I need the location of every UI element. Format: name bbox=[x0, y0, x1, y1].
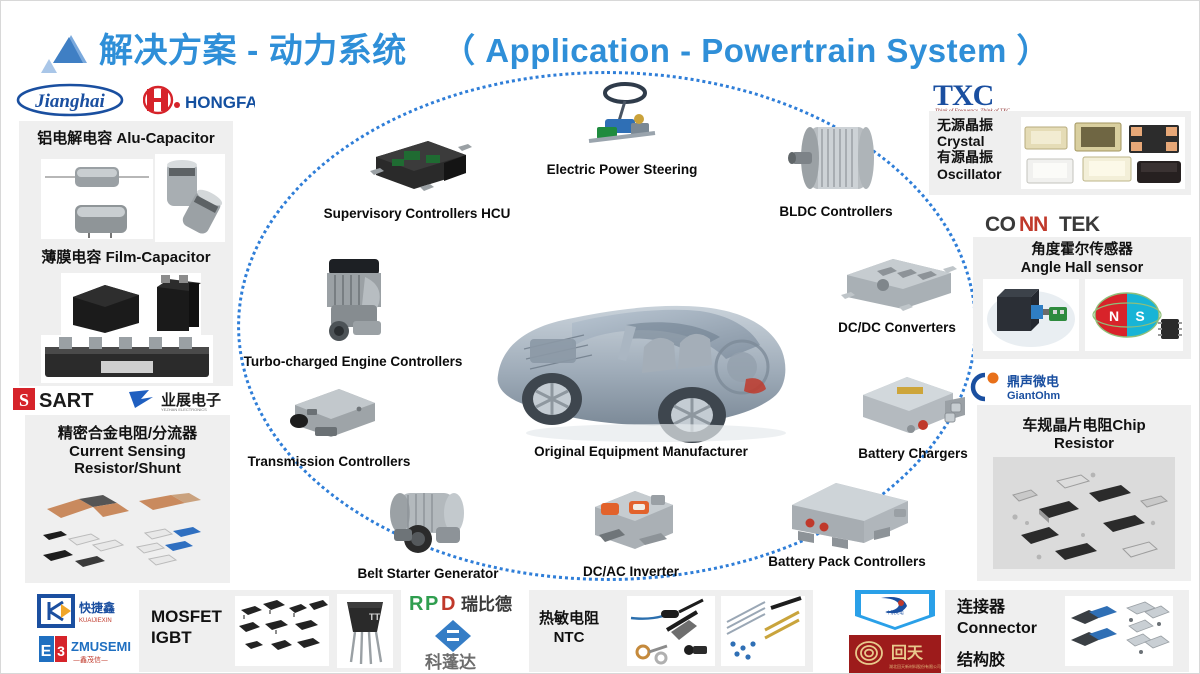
alu-capacitor-photo-2 bbox=[155, 154, 225, 242]
node-label: Transmission Controllers bbox=[229, 455, 429, 470]
svg-text:TEK: TEK bbox=[1059, 213, 1100, 236]
node-dc-ac-inverter: DC/AC Inverter bbox=[549, 481, 713, 580]
svg-text:YEZHAN ELECTRONICS: YEZHAN ELECTRONICS bbox=[161, 407, 207, 412]
turbo-engine-photo bbox=[213, 251, 493, 347]
svg-text:SART: SART bbox=[39, 390, 93, 412]
magnet-hall-diagram: N S bbox=[1085, 279, 1183, 351]
bldc-motor-photo bbox=[747, 119, 925, 199]
yezhan-electronics-logo: 业展电子 YEZHAN ELECTRONICS bbox=[127, 386, 239, 412]
mosfet-igbt-panel: MOSFET IGBT bbox=[139, 590, 401, 672]
ntc-sensor-photo-1 bbox=[627, 596, 715, 666]
node-label: Turbo-charged Engine Controllers bbox=[213, 355, 493, 370]
node-label: Supervisory Controllers HCU bbox=[301, 207, 533, 222]
svg-text:回天: 回天 bbox=[891, 643, 924, 662]
svg-text:GiantOhm: GiantOhm bbox=[1007, 390, 1060, 402]
battery-pack-controller-photo bbox=[747, 473, 947, 553]
svg-text:E: E bbox=[41, 643, 52, 660]
svg-text:3: 3 bbox=[57, 643, 65, 659]
huitian-adhesive-logo: 回天 湖北回天新材料股份有限公司 bbox=[849, 635, 941, 673]
connector-labels: 连接器 Connector bbox=[957, 598, 1037, 640]
node-original-equipment-manufacturer: Original Equipment Manufacturer bbox=[471, 263, 811, 460]
angle-hall-sensor-title-cn: 角度霍尔传感器 bbox=[973, 242, 1191, 259]
node-label: BLDC Controllers bbox=[747, 205, 925, 220]
svg-text:瑞比德: 瑞比德 bbox=[461, 594, 512, 615]
current-sensing-resistor-panel: 精密合金电阻/分流器 Current Sensing Resistor/Shun… bbox=[25, 415, 230, 583]
node-supervisory-controllers-hcu: Supervisory Controllers HCU bbox=[301, 129, 533, 222]
crystal-photos bbox=[1021, 117, 1185, 189]
bottom-strip: 快捷鑫 KUAIJIEXIN E 3 ZMUSEMI —鑫茂信— MOSFET … bbox=[1, 586, 1200, 674]
ntc-panel: 热敏电阻 NTC bbox=[529, 590, 813, 672]
node-label: Original Equipment Manufacturer bbox=[471, 445, 811, 460]
triangle-mountains-logo-icon bbox=[37, 29, 107, 75]
svg-text:ZMUSEMI: ZMUSEMI bbox=[71, 639, 131, 654]
kelengda-logo: 科蓬达 bbox=[407, 618, 525, 670]
car-cutaway-photo bbox=[471, 263, 811, 443]
electric-power-steering-photo bbox=[529, 79, 715, 159]
angle-hall-sensor-panel: 角度霍尔传感器 Angle Hall sensor N bbox=[973, 237, 1191, 359]
svg-text:快捷鑫: 快捷鑫 bbox=[79, 600, 115, 615]
sart-logo: S SART bbox=[11, 386, 119, 412]
mosfet-brand-logos: 快捷鑫 KUAIJIEXIN E 3 ZMUSEMI —鑫茂信— bbox=[37, 592, 133, 670]
svg-text:湖北回天新材料股份有限公司: 湖北回天新材料股份有限公司 bbox=[889, 663, 941, 669]
ntc-sensor-photo-2 bbox=[721, 596, 805, 666]
capacitor-brand-logos: Jianghai HONGFA bbox=[15, 83, 235, 117]
node-label: Battery Pack Controllers bbox=[747, 555, 947, 570]
node-label: DC/DC Converters bbox=[807, 321, 987, 336]
battery-charger-photo bbox=[821, 369, 1005, 441]
crystal-oscillator-labels: 无源晶振 Crystal 有源晶振 Oscillator bbox=[937, 117, 1015, 182]
shunt-resistor-photo bbox=[33, 487, 223, 579]
belt-starter-generator-photo bbox=[331, 479, 525, 559]
node-label: Belt Starter Generator bbox=[331, 567, 525, 582]
title-bar: 解决方案 - 动力系统 （ Application - Powertrain S… bbox=[1, 9, 1200, 67]
alu-capacitor-photo-1 bbox=[41, 159, 153, 239]
svg-text:NN: NN bbox=[1019, 213, 1047, 236]
angle-hall-sensor-title-en: Angle Hall sensor bbox=[973, 260, 1191, 277]
node-label: DC/AC Inverter bbox=[549, 565, 713, 580]
mosfet-package-photo bbox=[235, 596, 329, 666]
svg-text:—鑫茂信—: —鑫茂信— bbox=[73, 655, 108, 664]
page-title: 解决方案 - 动力系统 （ Application - Powertrain S… bbox=[99, 23, 1050, 72]
svg-text:S: S bbox=[19, 390, 29, 410]
node-battery-pack-controllers: Battery Pack Controllers bbox=[747, 473, 947, 570]
page-title-cn: 解决方案 - 动力系统 bbox=[99, 32, 407, 70]
chip-resistor-panel: 车规晶片电阻Chip Resistor bbox=[977, 405, 1191, 581]
rpd-logo: R P D 瑞比德 bbox=[407, 588, 525, 618]
adhesive-label: 结构胶 bbox=[957, 646, 1005, 670]
transmission-controller-photo bbox=[229, 383, 429, 447]
connector-brand-logos: 中航光电 回天 湖北回天新材料股份有限公司 bbox=[849, 588, 941, 672]
dcdc-converter-photo bbox=[807, 251, 987, 317]
node-battery-chargers: Battery Chargers bbox=[821, 369, 1005, 462]
connector-adhesive-panel: 连接器 Connector 结构胶 bbox=[945, 590, 1189, 672]
node-turbo-charged-engine-controllers: Turbo-charged Engine Controllers bbox=[213, 251, 493, 370]
current-sensing-resistor-title: 精密合金电阻/分流器 Current Sensing Resistor/Shun… bbox=[25, 425, 230, 478]
svg-text:P: P bbox=[425, 593, 438, 615]
magnet-north-label: N bbox=[1109, 308, 1119, 324]
node-transmission-controllers: Transmission Controllers bbox=[229, 383, 429, 470]
avic-connector-logo: 中航光电 bbox=[849, 588, 941, 632]
chip-resistor-title: 车规晶片电阻Chip Resistor bbox=[977, 417, 1191, 453]
slide-canvas: 解决方案 - 动力系统 （ Application - Powertrain S… bbox=[0, 0, 1200, 674]
dc-ac-inverter-photo bbox=[549, 481, 713, 559]
magnet-south-label: S bbox=[1135, 308, 1144, 324]
hall-sensor-motor-photo bbox=[983, 279, 1079, 351]
svg-text:CO: CO bbox=[985, 213, 1016, 236]
svg-text:科蓬达: 科蓬达 bbox=[425, 652, 476, 670]
svg-text:D: D bbox=[441, 593, 455, 615]
power-module-photo bbox=[41, 335, 213, 383]
conntek-logo: CO NN TEK bbox=[983, 211, 1113, 237]
supervisory-controller-photo bbox=[301, 129, 533, 201]
node-label: Battery Chargers bbox=[821, 447, 1005, 462]
capacitor-panel: 铝电解电容 Alu-Capacitor bbox=[19, 121, 233, 386]
svg-text:中航光电: 中航光电 bbox=[886, 609, 904, 616]
svg-text:Jianghai: Jianghai bbox=[34, 91, 105, 112]
film-capacitor-title: 薄膜电容 Film-Capacitor bbox=[19, 249, 233, 266]
svg-text:鼎声微电: 鼎声微电 bbox=[1007, 374, 1059, 390]
svg-text:TT: TT bbox=[369, 612, 380, 622]
txc-logo: TXC Think of Frequency, Think of TXC bbox=[931, 79, 1051, 113]
node-electric-power-steering: Electric Power Steering bbox=[529, 79, 715, 178]
svg-text:HONGFA: HONGFA bbox=[185, 93, 255, 112]
resistor-brand-logos: S SART 业展电子 YEZHAN ELECTRONICS bbox=[11, 386, 235, 412]
node-belt-starter-generator: Belt Starter Generator bbox=[331, 479, 525, 582]
mosfet-igbt-labels: MOSFET IGBT bbox=[151, 606, 222, 649]
crystal-oscillator-panel: 无源晶振 Crystal 有源晶振 Oscillator bbox=[929, 111, 1191, 195]
zmusemi-logo: E 3 ZMUSEMI —鑫茂信— bbox=[37, 634, 133, 666]
node-dc-dc-converters: DC/DC Converters bbox=[807, 251, 987, 336]
ntc-brand-logos: R P D 瑞比德 科蓬达 bbox=[407, 588, 525, 672]
bridge-rectifier-photo: TT bbox=[337, 594, 393, 668]
kuaijiexin-logo: 快捷鑫 KUAIJIEXIN bbox=[37, 594, 133, 628]
chip-resistor-photo bbox=[993, 457, 1175, 569]
alu-capacitor-title: 铝电解电容 Alu-Capacitor bbox=[19, 130, 233, 147]
page-title-en: （ Application - Powertrain System ） bbox=[442, 32, 1050, 69]
node-bldc-controllers: BLDC Controllers bbox=[747, 119, 925, 220]
svg-text:KUAIJIEXIN: KUAIJIEXIN bbox=[79, 618, 112, 624]
film-capacitor-photo bbox=[61, 273, 201, 335]
svg-text:R: R bbox=[409, 593, 424, 615]
ntc-labels: 热敏电阻 NTC bbox=[539, 610, 599, 648]
connector-photo bbox=[1065, 596, 1173, 666]
jianghai-logo: Jianghai bbox=[15, 83, 125, 117]
node-label: Electric Power Steering bbox=[529, 163, 715, 178]
hongfa-logo: HONGFA bbox=[143, 85, 255, 115]
